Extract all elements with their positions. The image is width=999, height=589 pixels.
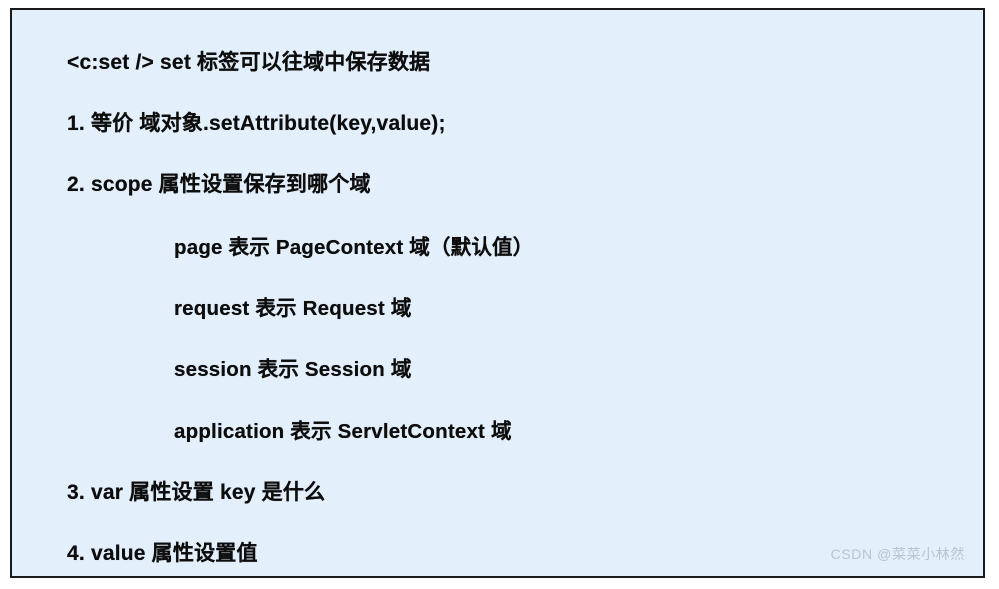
- note-line-scope-session: session 表示 Session 域: [174, 352, 412, 382]
- note-line-scope-request: request 表示 Request 域: [174, 291, 412, 321]
- note-line-item-1: 1. 等价 域对象.setAttribute(key,value);: [67, 107, 446, 137]
- note-line-item-4: 4. value 属性设置值: [67, 537, 258, 567]
- csdn-watermark: CSDN @菜菜小林然: [831, 544, 965, 564]
- note-line-scope-page: page 表示 PageContext 域（默认值）: [174, 230, 533, 260]
- note-line-title: <c:set /> set 标签可以往域中保存数据: [67, 46, 430, 76]
- note-line-item-3: 3. var 属性设置 key 是什么: [67, 476, 325, 506]
- content-panel: <c:set /> set 标签可以往域中保存数据 1. 等价 域对象.setA…: [10, 8, 985, 578]
- note-line-item-2: 2. scope 属性设置保存到哪个域: [67, 168, 371, 198]
- slide-canvas: <c:set /> set 标签可以往域中保存数据 1. 等价 域对象.setA…: [0, 0, 999, 589]
- note-line-scope-application: application 表示 ServletContext 域: [174, 414, 512, 444]
